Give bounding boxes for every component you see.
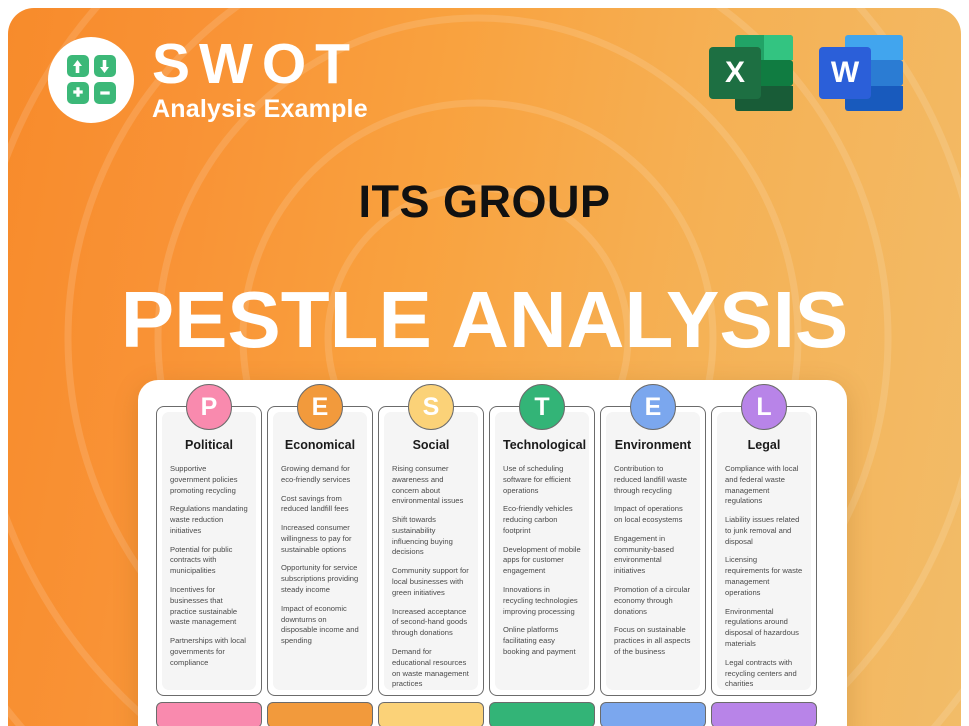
column-bullet-list: Rising consumer awareness and concern ab…: [392, 464, 470, 690]
column-panel: SocialRising consumer awareness and conc…: [384, 412, 478, 690]
list-item: Legal contracts with recycling centers a…: [725, 658, 803, 690]
list-item: Increased acceptance of second-hand good…: [392, 607, 470, 639]
list-item: Opportunity for service subscriptions pr…: [281, 563, 359, 595]
excel-icon[interactable]: X: [709, 35, 793, 111]
list-item: Engagement in community-based environmen…: [614, 534, 692, 577]
column-panel: PoliticalSupportive government policies …: [162, 412, 256, 690]
list-item: Development of mobile apps for customer …: [503, 545, 581, 577]
column-letter-badge[interactable]: E: [630, 384, 676, 430]
column-bullet-list: Contribution to reduced landfill waste t…: [614, 464, 692, 658]
column-panel: TechnologicalUse of scheduling software …: [495, 412, 589, 690]
list-item: Increased consumer willingness to pay fo…: [281, 523, 359, 555]
column-outline: EEconomicalGrowing demand for eco-friend…: [267, 406, 373, 696]
page-title: PESTLE ANALYSIS: [8, 280, 961, 360]
pestle-columns: PPoliticalSupportive government policies…: [156, 406, 829, 726]
column-color-strip: [378, 702, 484, 726]
column-bullet-list: Use of scheduling software for efficient…: [503, 464, 581, 658]
list-item: Impact of operations on local ecosystems: [614, 504, 692, 526]
list-item: Use of scheduling software for efficient…: [503, 464, 581, 496]
list-item: Growing demand for eco-friendly services: [281, 464, 359, 486]
list-item: Contribution to reduced landfill waste t…: [614, 464, 692, 496]
list-item: Regulations mandating waste reduction in…: [170, 504, 248, 536]
pestle-board: PPoliticalSupportive government policies…: [138, 380, 847, 726]
list-item: Supportive government policies promoting…: [170, 464, 248, 496]
office-icons-group: X W: [709, 35, 903, 111]
swot-logo-title: SWOT: [152, 36, 368, 93]
column-title: Political: [170, 438, 248, 452]
excel-icon-letter: X: [709, 47, 761, 99]
column-panel: EnvironmentContribution to reduced landf…: [606, 412, 700, 690]
column-bullet-list: Growing demand for eco-friendly services…: [281, 464, 359, 647]
pestle-column-technological: TTechnologicalUse of scheduling software…: [489, 406, 595, 726]
swot-logo-subtitle: Analysis Example: [152, 96, 368, 124]
list-item: Community support for local businesses w…: [392, 566, 470, 598]
column-color-strip: [267, 702, 373, 726]
pestle-column-economical: EEconomicalGrowing demand for eco-friend…: [267, 406, 373, 726]
list-item: Focus on sustainable practices in all as…: [614, 625, 692, 657]
word-icon[interactable]: W: [819, 35, 903, 111]
pestle-column-political: PPoliticalSupportive government policies…: [156, 406, 262, 726]
column-title: Economical: [281, 438, 359, 452]
column-letter-badge[interactable]: P: [186, 384, 232, 430]
column-title: Technological: [503, 438, 581, 452]
list-item: Partnerships with local governments for …: [170, 636, 248, 668]
swot-logo-badge: [48, 37, 134, 123]
company-name: ITS GROUP: [8, 176, 961, 228]
column-letter-badge[interactable]: L: [741, 384, 787, 430]
pestle-column-environment: EEnvironmentContribution to reduced land…: [600, 406, 706, 726]
plus-icon: [67, 82, 89, 104]
minus-icon: [94, 82, 116, 104]
column-outline: EEnvironmentContribution to reduced land…: [600, 406, 706, 696]
column-panel: EconomicalGrowing demand for eco-friendl…: [273, 412, 367, 690]
list-item: Compliance with local and federal waste …: [725, 464, 803, 507]
list-item: Demand for educational resources on wast…: [392, 647, 470, 690]
pestle-column-legal: LLegalCompliance with local and federal …: [711, 406, 817, 726]
arrow-up-icon: [67, 55, 89, 77]
column-bullet-list: Supportive government policies promoting…: [170, 464, 248, 669]
column-color-strip: [156, 702, 262, 726]
column-bullet-list: Compliance with local and federal waste …: [725, 464, 803, 690]
list-item: Impact of economic downturns on disposab…: [281, 604, 359, 647]
swot-quadrant-icon: [67, 55, 116, 104]
list-item: Rising consumer awareness and concern ab…: [392, 464, 470, 507]
column-title: Social: [392, 438, 470, 452]
list-item: Environmental regulations around disposa…: [725, 607, 803, 650]
column-outline: TTechnologicalUse of scheduling software…: [489, 406, 595, 696]
pestle-column-social: SSocialRising consumer awareness and con…: [378, 406, 484, 726]
list-item: Potential for public contracts with muni…: [170, 545, 248, 577]
list-item: Licensing requirements for waste managem…: [725, 555, 803, 598]
list-item: Eco-friendly vehicles reducing carbon fo…: [503, 504, 581, 536]
arrow-down-icon: [94, 55, 116, 77]
column-color-strip: [711, 702, 817, 726]
column-title: Environment: [614, 438, 692, 452]
word-icon-letter: W: [819, 47, 871, 99]
column-outline: PPoliticalSupportive government policies…: [156, 406, 262, 696]
list-item: Promotion of a circular economy through …: [614, 585, 692, 617]
column-letter-badge[interactable]: S: [408, 384, 454, 430]
swot-logo: SWOT Analysis Example: [48, 36, 368, 124]
poster-canvas: SWOT Analysis Example X: [0, 0, 969, 726]
list-item: Incentives for businesses that practice …: [170, 585, 248, 628]
column-color-strip: [600, 702, 706, 726]
column-outline: SSocialRising consumer awareness and con…: [378, 406, 484, 696]
column-color-strip: [489, 702, 595, 726]
swot-logo-text: SWOT Analysis Example: [152, 36, 368, 124]
column-title: Legal: [725, 438, 803, 452]
list-item: Cost savings from reduced landfill fees: [281, 494, 359, 516]
column-letter-badge[interactable]: E: [297, 384, 343, 430]
orange-background: SWOT Analysis Example X: [8, 8, 961, 726]
list-item: Innovations in recycling technologies im…: [503, 585, 581, 617]
list-item: Liability issues related to junk removal…: [725, 515, 803, 547]
list-item: Shift towards sustainability influencing…: [392, 515, 470, 558]
column-letter-badge[interactable]: T: [519, 384, 565, 430]
column-outline: LLegalCompliance with local and federal …: [711, 406, 817, 696]
column-panel: LegalCompliance with local and federal w…: [717, 412, 811, 690]
list-item: Online platforms facilitating easy booki…: [503, 625, 581, 657]
